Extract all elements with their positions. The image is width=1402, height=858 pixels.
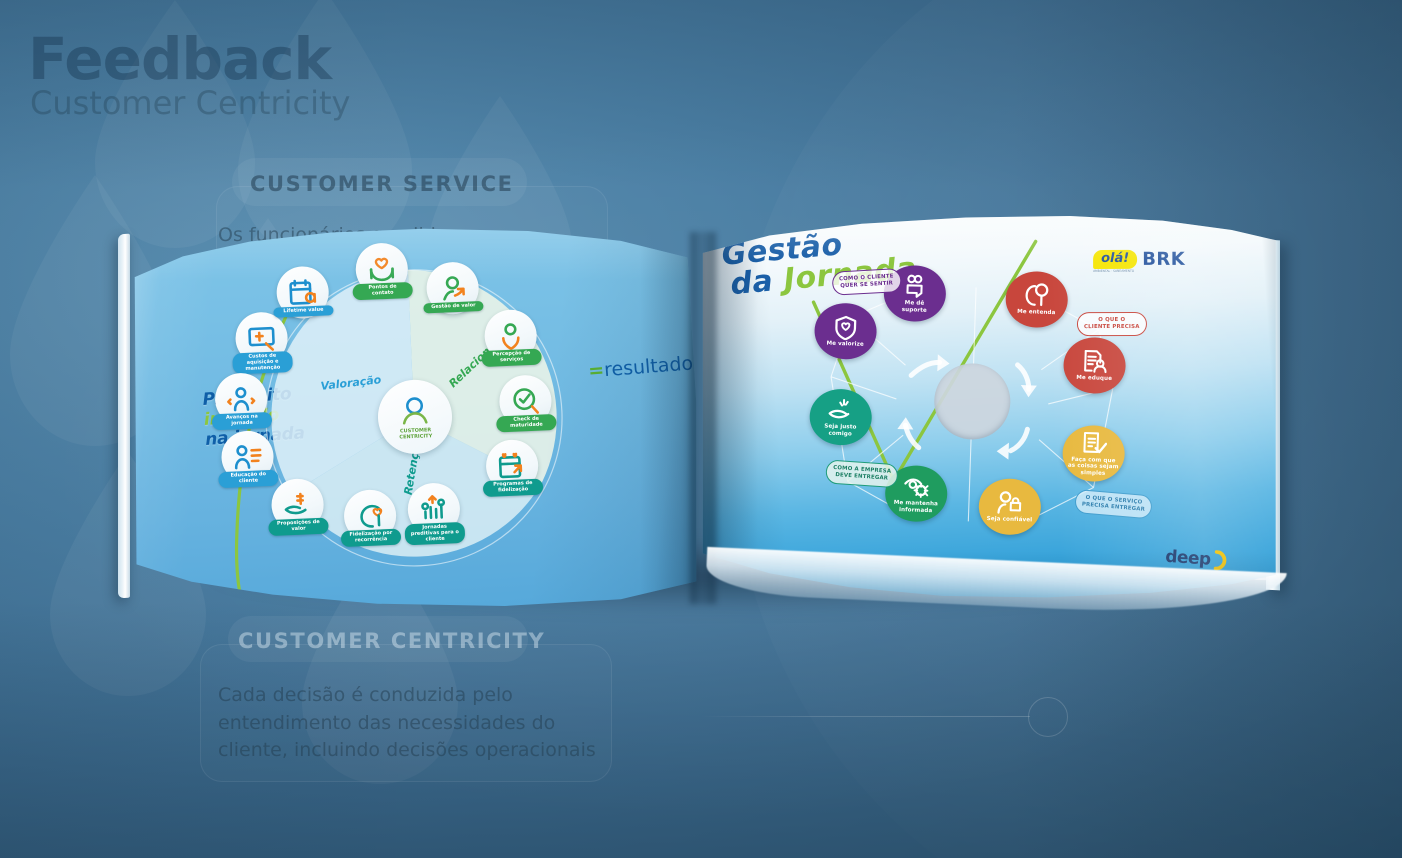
journey-node-label-2: Me eduque [1073, 375, 1115, 383]
journey-node-label-3: Faça com queas coisas sejamsimples [1065, 457, 1122, 478]
customer-centricity-icon [397, 393, 432, 428]
journey-node-label-6: Seja justocomigo [821, 424, 860, 438]
wheel-node-label-3: Educação do cliente [218, 470, 279, 488]
brk-logo: olá! BRK AMBIENTAL · SANEAMENTO [1093, 249, 1185, 270]
journey-node-3: Faça com queas coisas sejamsimples [1062, 424, 1126, 482]
right-page-content: Gestão da Jornada olá! BRK AMBIENTAL · S… [700, 216, 1278, 606]
wheel-node-label-2: Avanços na jornada [212, 412, 273, 430]
centricity-wheel: Valoração Relacionamento Retenção CUSTOM… [237, 241, 591, 595]
journey-callouts: COMO O CLIENTE QUER SE SENTIRO QUE O CLI… [707, 216, 1278, 226]
journey-callout-2: COMO A EMPRESA DEVE ENTREGAR [825, 459, 899, 487]
journey-node-label-0: Me dêsuporte [899, 300, 930, 314]
wheel-node-label-7: Check de maturidade [496, 414, 557, 432]
wheel-node-label-11: Proposições de valor [268, 518, 329, 536]
journey-node-label-5: Me mantenhainformada [890, 500, 941, 514]
wheel-node-label-0: Custos de aquisição e manutenção [232, 351, 293, 375]
ola-badge: olá! [1093, 250, 1137, 269]
left-page: Propósito inserido na jornada =resultado [122, 228, 702, 606]
journey-callout-1: O QUE O CLIENTE PRECISA [1077, 312, 1147, 336]
wheel-node-label-6: Percepção de serviços [481, 349, 542, 367]
brochure-mockup: Propósito inserido na jornada =resultado [0, 0, 1402, 858]
wheel-node-label-8: Programas de fidelização [483, 479, 544, 497]
wheel-node-label-9: Jornadas preditivas para o cliente [404, 522, 465, 546]
deep-wordmark: deep [1165, 547, 1212, 570]
wheel-node-label-4: Pontos de contato [352, 282, 413, 300]
center-label-line2: CENTRICITY [399, 433, 432, 440]
journey-node-label-7: Me valorize [823, 341, 867, 349]
journey-node-label-4: Seja confiável [984, 516, 1036, 524]
journey-callout-0: COMO O CLIENTE QUER SE SENTIR [832, 268, 902, 295]
journey-node-label-1: Me entenda [1014, 309, 1059, 317]
left-page-content: Propósito inserido na jornada =resultado [122, 228, 702, 606]
brk-tagline: AMBIENTAL · SANEAMENTO [1093, 269, 1134, 273]
wheel-node-label-10: Fidelização por recorrência [341, 529, 402, 547]
left-page-edge [118, 234, 130, 599]
slide-stage: Feedback Customer Centricity CUSTOMER SE… [0, 0, 1402, 858]
title-da: da [729, 263, 786, 303]
brk-wordmark: BRK [1142, 249, 1185, 270]
equals-sign: = [587, 359, 605, 382]
right-page: Gestão da Jornada olá! BRK AMBIENTAL · S… [700, 216, 1278, 606]
deep-arc-icon [1211, 550, 1232, 571]
